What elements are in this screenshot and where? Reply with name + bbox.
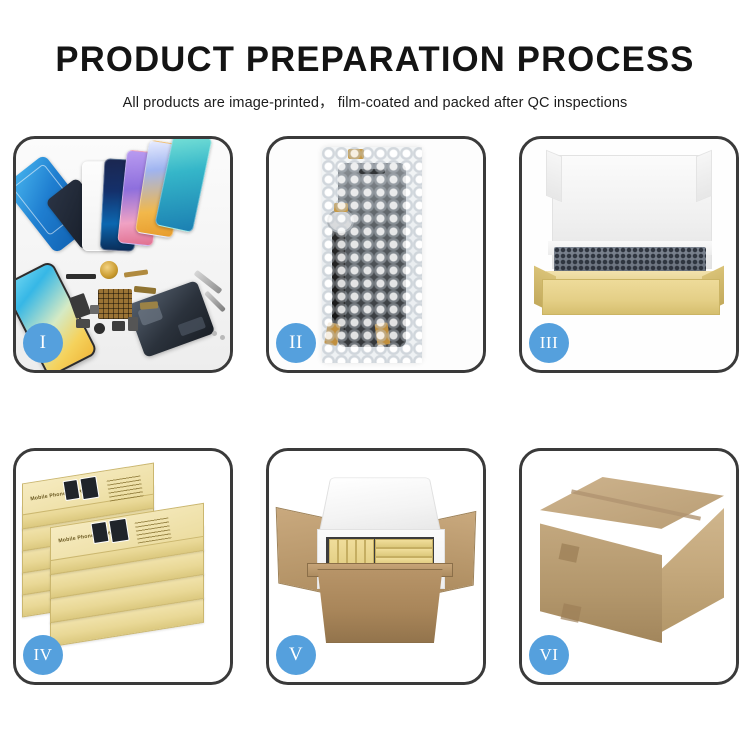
step-badge-3: III <box>529 323 569 363</box>
tape-icon <box>559 543 580 562</box>
box-lid-left-icon <box>546 150 562 202</box>
sim-tray-icon <box>128 317 138 331</box>
page-title: PRODUCT PREPARATION PROCESS <box>4 0 747 77</box>
tape-icon <box>348 149 364 159</box>
screen-artwork-icon <box>108 518 129 544</box>
page-header: PRODUCT PREPARATION PROCESS All products… <box>0 0 750 112</box>
box-front-icon <box>542 279 720 315</box>
shipping-carton-icon <box>540 477 724 655</box>
flex-cable-icon <box>66 274 96 279</box>
step-badge-4: IV <box>23 635 63 675</box>
process-step-panel-4[interactable]: Mobile Phone Spare Parts Mobile Phone Sp… <box>13 448 233 685</box>
logic-board-icon <box>98 289 132 319</box>
camera-module-icon <box>76 319 90 328</box>
step-badge-5: V <box>276 635 316 675</box>
page-subtitle: All products are image-printed， film-coa… <box>0 77 750 112</box>
process-step-panel-6[interactable]: VI <box>519 448 739 685</box>
screen-artwork-icon <box>63 479 81 501</box>
retail-box <box>375 539 433 548</box>
speaker-coil-icon <box>100 261 118 279</box>
process-step-grid: I II <box>13 136 739 685</box>
process-step-panel-3[interactable]: III <box>519 136 739 373</box>
screw-icon <box>220 335 225 340</box>
foam-lid-icon <box>319 478 442 535</box>
gold-contact-icon <box>134 286 157 294</box>
carton-body-icon <box>309 569 451 643</box>
process-step-panel-1[interactable]: I <box>13 136 233 373</box>
home-button-icon <box>94 323 105 334</box>
process-step-panel-5[interactable]: V <box>266 448 486 685</box>
tape-icon <box>334 203 348 212</box>
step-badge-6: VI <box>529 635 569 675</box>
connector-ring-icon <box>327 209 354 233</box>
carton-front-icon <box>540 521 662 643</box>
process-step-panel-2[interactable]: II <box>266 136 486 373</box>
screw-icon <box>212 331 217 336</box>
step-badge-2: II <box>276 323 316 363</box>
step-badge-1: I <box>23 323 63 363</box>
screwdriver-icon <box>204 291 226 313</box>
screen-artwork-icon <box>90 521 109 544</box>
screen-artwork-icon <box>79 476 99 500</box>
bubble-bag-icon <box>322 147 422 363</box>
box-lid-right-icon <box>696 150 712 202</box>
flex-cable-icon <box>332 225 345 333</box>
vibrator-icon <box>112 321 125 331</box>
lcd-assembly-icon <box>338 163 406 347</box>
retail-box <box>375 548 433 557</box>
tape-icon <box>561 603 582 622</box>
small-chip-icon <box>90 305 99 314</box>
